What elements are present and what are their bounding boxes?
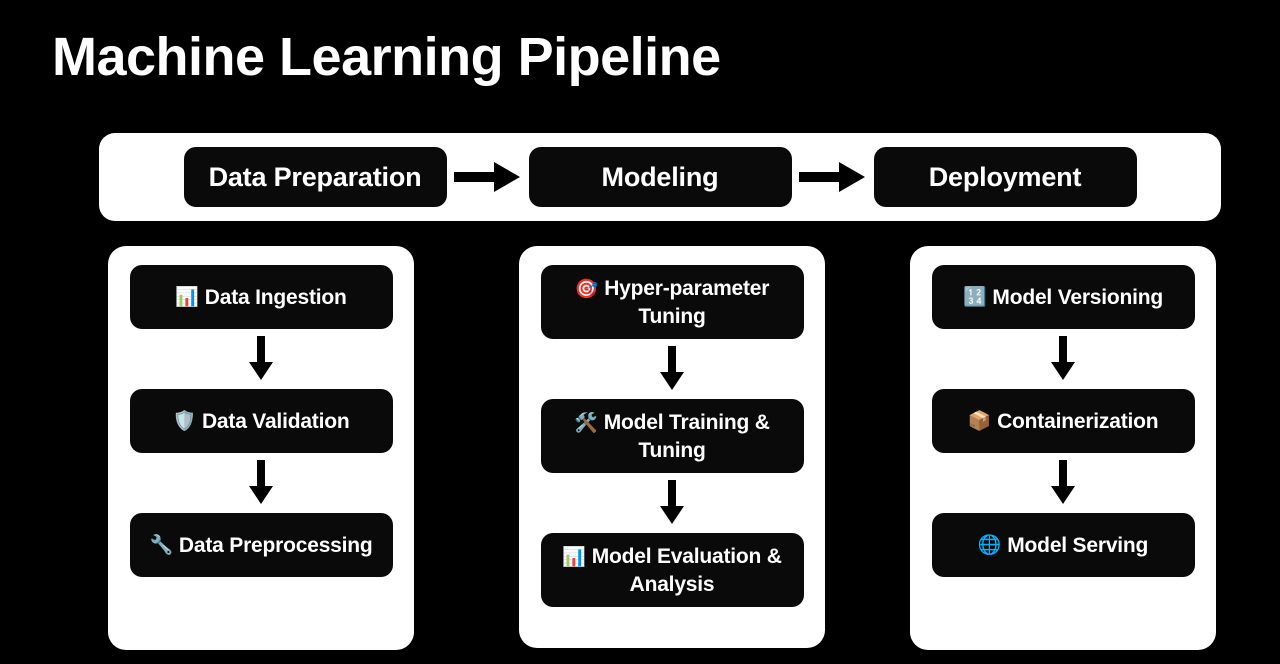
- down-arrow-icon: [659, 473, 685, 533]
- flow-stage-deployment[interactable]: Deployment: [874, 147, 1137, 207]
- page-title: Machine Learning Pipeline: [52, 24, 721, 90]
- column-data-preparation: 📊 Data Ingestion 🛡️ Data Validation 🔧 D: [108, 246, 414, 650]
- column-deployment: 🔢 Model Versioning 📦 Containerization 🌐: [910, 246, 1216, 650]
- flow-stage-modeling[interactable]: Modeling: [529, 147, 792, 207]
- bar-chart-icon: 📊: [175, 284, 198, 311]
- step-label: Model Versioning: [992, 284, 1163, 311]
- input-numbers-icon: 🔢: [963, 284, 986, 311]
- package-icon: 📦: [968, 408, 991, 435]
- down-arrow-icon: [1050, 453, 1076, 513]
- step-label: Model Training & Tuning: [604, 411, 770, 462]
- right-arrow-icon: [447, 160, 529, 194]
- down-arrow-icon: [248, 453, 274, 513]
- pipeline-flow-bar: Data Preparation Modeling Deployment: [99, 133, 1221, 221]
- flow-stage-data-preparation[interactable]: Data Preparation: [184, 147, 447, 207]
- step-model-evaluation-and-analysis[interactable]: 📊Model Evaluation & Analysis: [541, 533, 804, 607]
- flow-stage-label: Modeling: [602, 162, 719, 193]
- bar-chart-icon: 📊: [562, 546, 585, 568]
- target-icon: 🎯: [575, 278, 598, 300]
- slide-canvas: Machine Learning Pipeline Data Preparati…: [0, 0, 1280, 664]
- step-containerization[interactable]: 📦 Containerization: [932, 389, 1195, 453]
- down-arrow-icon: [659, 339, 685, 399]
- step-data-ingestion[interactable]: 📊 Data Ingestion: [130, 265, 393, 329]
- globe-icon: 🌐: [978, 532, 1001, 559]
- right-arrow-icon: [792, 160, 874, 194]
- step-data-preprocessing[interactable]: 🔧 Data Preprocessing: [130, 513, 393, 577]
- step-model-serving[interactable]: 🌐 Model Serving: [932, 513, 1195, 577]
- step-label: Model Serving: [1007, 532, 1148, 559]
- down-arrow-icon: [248, 329, 274, 389]
- wrench-icon: 🔧: [149, 532, 172, 559]
- step-label: Containerization: [997, 408, 1158, 435]
- step-model-versioning[interactable]: 🔢 Model Versioning: [932, 265, 1195, 329]
- step-label: Data Ingestion: [205, 284, 347, 311]
- step-label: Hyper-parameter Tuning: [604, 277, 769, 328]
- hammer-and-wrench-icon: 🛠️: [574, 412, 597, 434]
- step-model-training-and-tuning[interactable]: 🛠️Model Training & Tuning: [541, 399, 804, 473]
- step-label: Model Evaluation & Analysis: [592, 545, 782, 596]
- shield-icon: 🛡️: [172, 408, 195, 435]
- step-data-validation[interactable]: 🛡️ Data Validation: [130, 389, 393, 453]
- flow-stage-label: Data Preparation: [209, 162, 422, 193]
- step-hyperparameter-tuning[interactable]: 🎯Hyper-parameter Tuning: [541, 265, 804, 339]
- pipeline-columns: 📊 Data Ingestion 🛡️ Data Validation 🔧 D: [99, 246, 1221, 652]
- step-label: Data Validation: [202, 408, 350, 435]
- column-modeling: 🎯Hyper-parameter Tuning 🛠️Model Training…: [519, 246, 825, 648]
- flow-stage-label: Deployment: [929, 162, 1082, 193]
- down-arrow-icon: [1050, 329, 1076, 389]
- step-label: Data Preprocessing: [179, 532, 373, 559]
